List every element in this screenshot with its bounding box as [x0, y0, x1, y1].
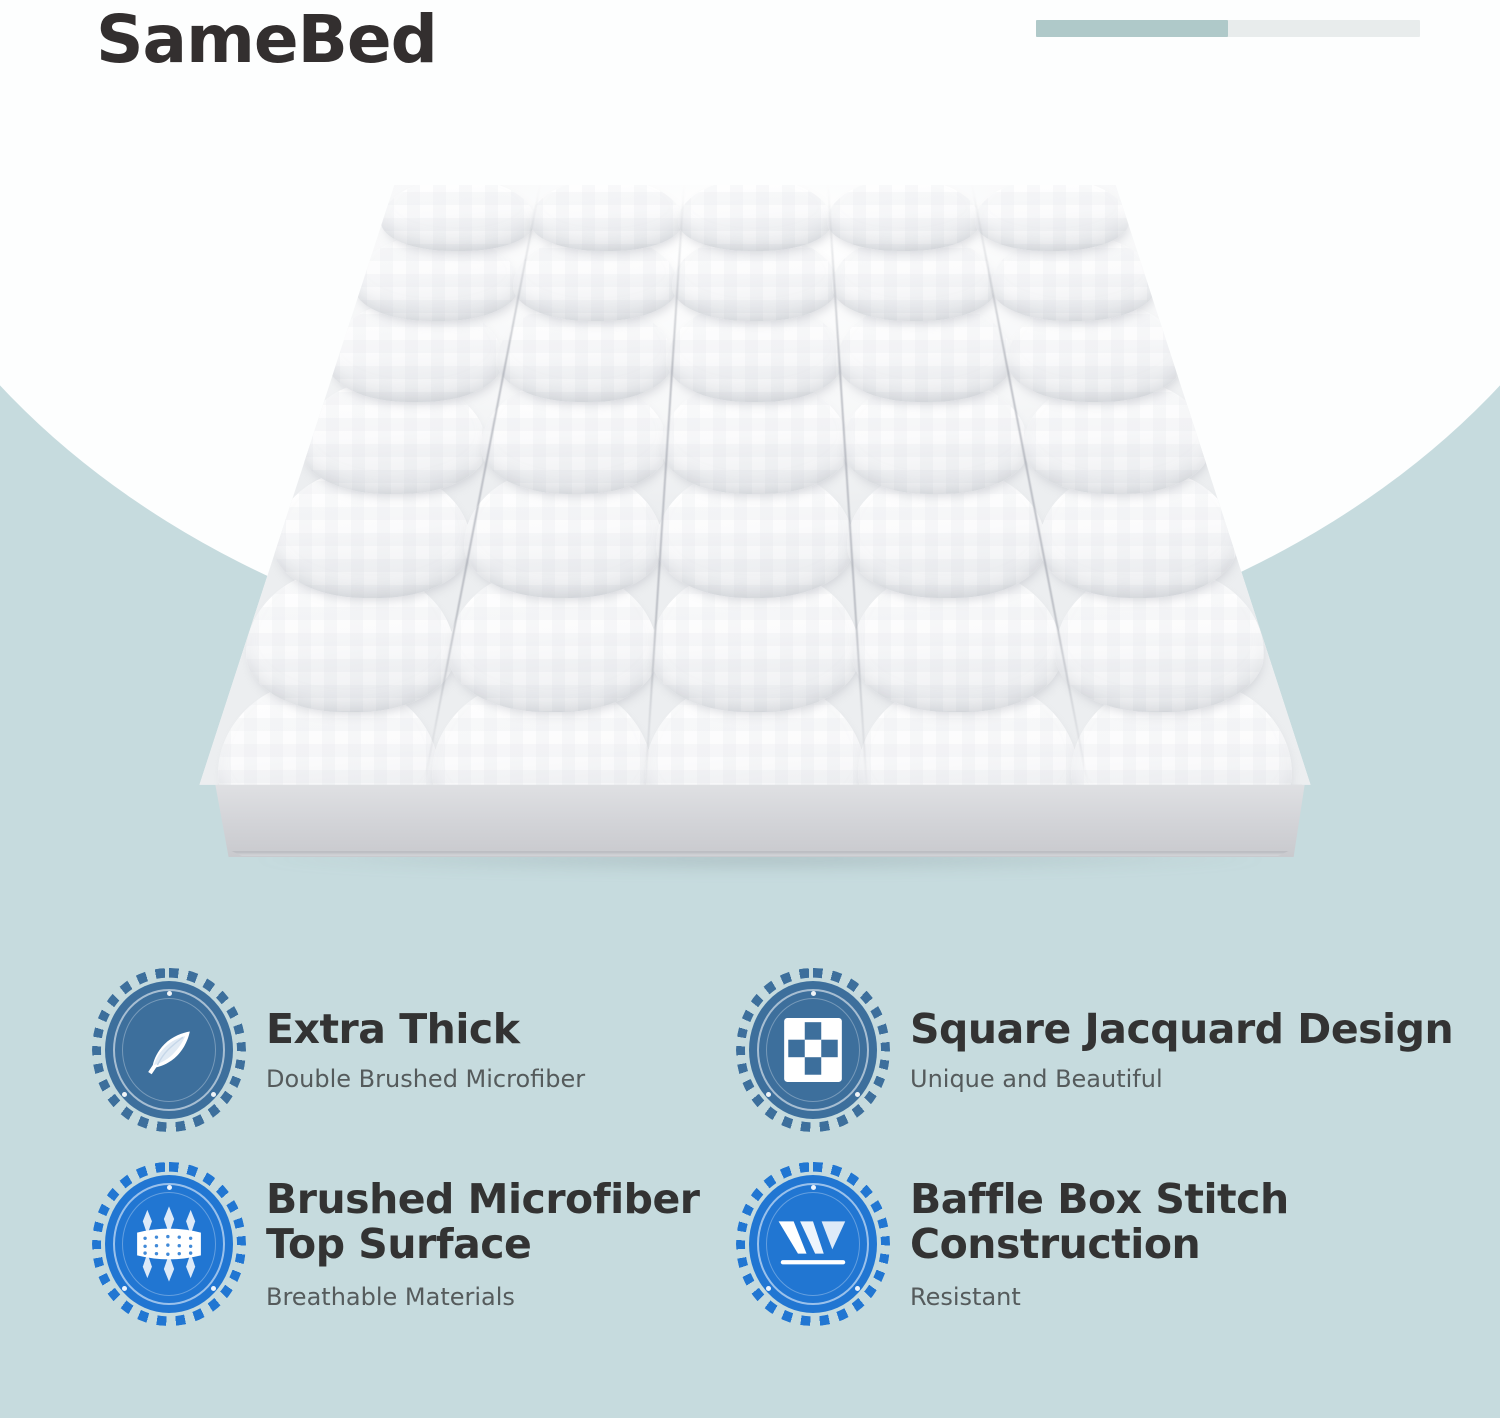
product-image [195, 185, 1315, 885]
feature-title: Square Jacquard Design [910, 1007, 1453, 1051]
quilt-cell [827, 185, 981, 251]
feature-list: Extra Thick Double Brushed Microfiber [0, 960, 1500, 1380]
quilt-cell [678, 185, 832, 251]
feature-subtitle: Resistant [910, 1283, 1289, 1311]
quilt-row [195, 185, 1315, 253]
quilt-cell [530, 185, 684, 251]
mattress-bottom-edge [225, 851, 1295, 856]
checkerboard-icon [742, 974, 884, 1126]
breathable-fabric-icon [98, 1168, 240, 1320]
feature-title: Extra Thick [266, 1007, 585, 1051]
product-marketing-image: SameBed [0, 0, 1500, 1418]
feature-title: Brushed Microfiber Top Surface [266, 1177, 700, 1266]
feature-item-extra-thick: Extra Thick Double Brushed Microfiber [98, 974, 585, 1126]
feature-subtitle: Breathable Materials [266, 1283, 700, 1311]
quilt-cell [975, 185, 1129, 251]
quilt-cell [381, 185, 535, 251]
mattress-side-panel [211, 785, 1309, 857]
quilted-top-surface [195, 185, 1315, 797]
feather-icon [98, 974, 240, 1126]
feature-subtitle: Unique and Beautiful [910, 1065, 1453, 1093]
feature-item-square-jacquard: Square Jacquard Design Unique and Beauti… [742, 974, 1453, 1126]
feature-item-brushed-microfiber: Brushed Microfiber Top Surface Breathabl… [98, 1168, 700, 1320]
decorative-progress-bar [1036, 20, 1420, 37]
w-emblem-icon [742, 1168, 884, 1320]
decorative-progress-bar-fill [1036, 20, 1228, 37]
feature-subtitle: Double Brushed Microfiber [266, 1065, 585, 1093]
feature-title: Baffle Box Stitch Construction [910, 1177, 1289, 1266]
feature-item-baffle-box: Baffle Box Stitch Construction Resistant [742, 1168, 1289, 1320]
brand-logo: SameBed [96, 4, 437, 77]
